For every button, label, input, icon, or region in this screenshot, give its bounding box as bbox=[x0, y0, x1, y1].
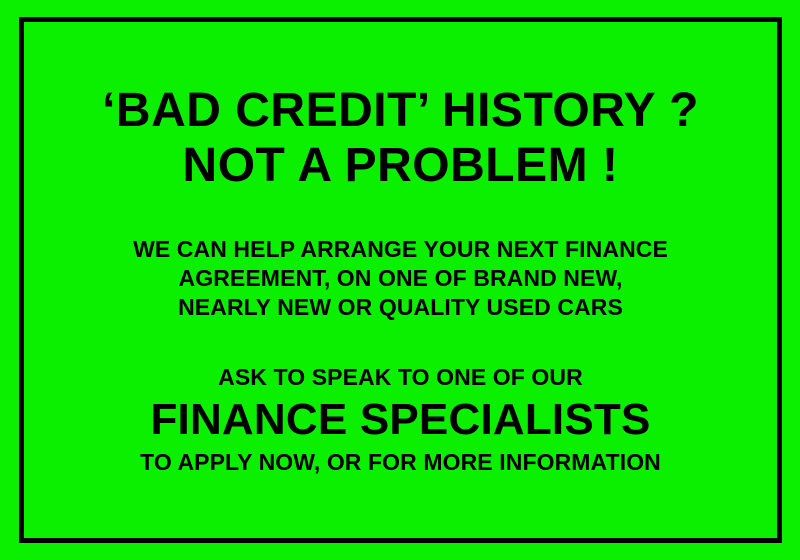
call-to-action-block: ASK TO SPEAK TO ONE OF OUR FINANCE SPECI… bbox=[140, 362, 661, 477]
cta-outro-line: TO APPLY NOW, OR FOR MORE INFORMATION bbox=[140, 447, 661, 477]
body-line-3: NEARLY NEW OR QUALITY USED CARS bbox=[178, 293, 623, 322]
poster-content: ‘BAD CREDIT’ HISTORY ? NOT A PROBLEM ! W… bbox=[19, 17, 782, 543]
headline-line-2: NOT A PROBLEM ! bbox=[183, 138, 619, 193]
body-line-2: AGREEMENT, ON ONE OF BRAND NEW, bbox=[179, 264, 623, 293]
headline-block: ‘BAD CREDIT’ HISTORY ? NOT A PROBLEM ! bbox=[102, 83, 699, 193]
body-text-block: WE CAN HELP ARRANGE YOUR NEXT FINANCE AG… bbox=[133, 235, 668, 322]
cta-headline: FINANCE SPECIALISTS bbox=[150, 394, 650, 446]
cta-intro-line: ASK TO SPEAK TO ONE OF OUR bbox=[218, 362, 583, 392]
advertisement-poster: ‘BAD CREDIT’ HISTORY ? NOT A PROBLEM ! W… bbox=[0, 0, 800, 560]
body-line-1: WE CAN HELP ARRANGE YOUR NEXT FINANCE bbox=[133, 235, 668, 264]
headline-line-1: ‘BAD CREDIT’ HISTORY ? bbox=[102, 83, 699, 138]
